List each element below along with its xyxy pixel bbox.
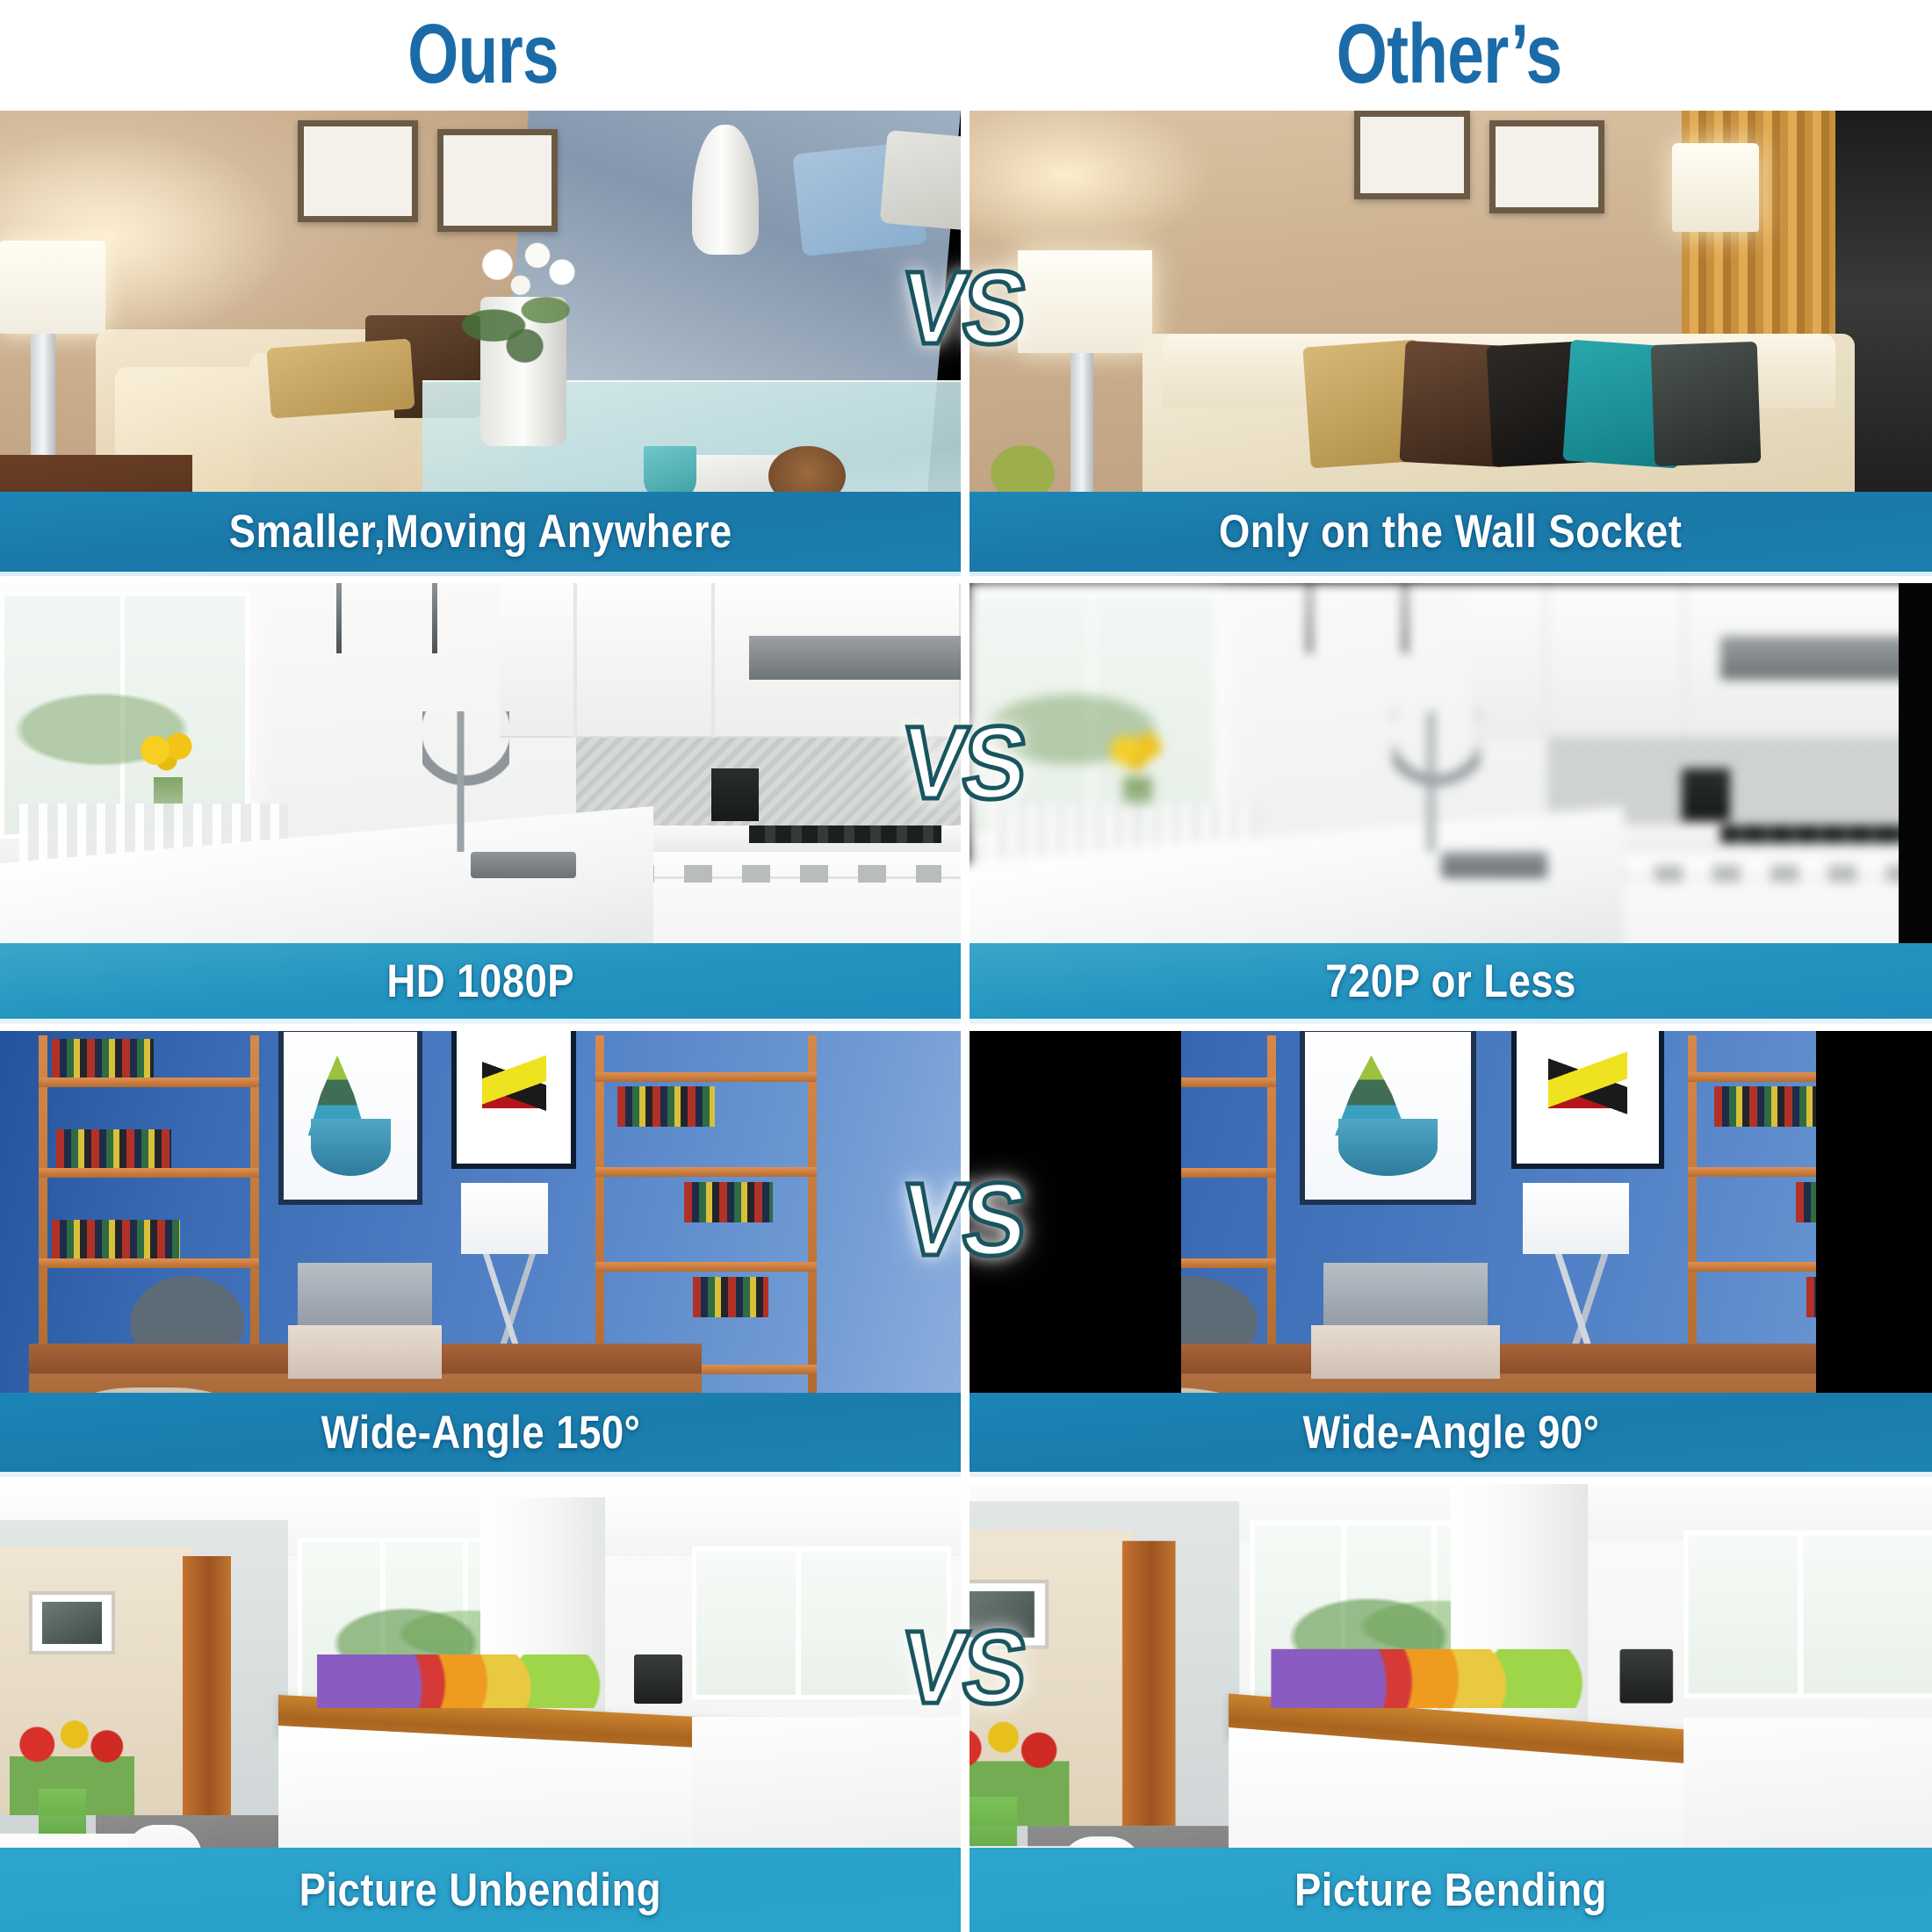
faucet-icon [1393, 711, 1480, 853]
caption-text: Picture Bending [1294, 1864, 1607, 1917]
caption-bar-others-distortion: Picture Bending [970, 1848, 1932, 1932]
wall-art-icon [29, 1591, 115, 1654]
vs-badge: VS [897, 1616, 1029, 1719]
caption-bar-ours-fov: Wide-Angle 150° [0, 1393, 961, 1477]
panel-ours-resolution[interactable]: HD 1080P [0, 583, 961, 1024]
header-title-ours: Ours [106, 5, 860, 109]
caption-text: HD 1080P [386, 955, 574, 1008]
wall-frame-icon [298, 120, 418, 223]
wall-frame-icon [1354, 111, 1470, 199]
panel-ours-fov[interactable]: Wide-Angle 150° [0, 1031, 961, 1477]
wall-frame-icon [437, 129, 558, 232]
panel-others-resolution[interactable]: 720P or Less [970, 583, 1932, 1024]
table-lamp-icon [0, 241, 105, 334]
panel-others-fov[interactable]: Wide-Angle 90° [970, 1031, 1932, 1477]
wall-frame-icon [1489, 120, 1605, 213]
caption-text: 720P or Less [1325, 955, 1576, 1008]
vs-badge: VS [897, 711, 1029, 815]
caption-bar-ours-size: Smaller,Moving Anywhere [0, 492, 961, 576]
vs-badge: VS [897, 1168, 1029, 1272]
caption-bar-others-resolution: 720P or Less [970, 943, 1932, 1024]
wall-art-icon [278, 1031, 422, 1205]
sunflowers-icon [125, 724, 211, 782]
floor-lamp-icon [461, 1183, 547, 1254]
comparison-infographic: Ours Other’s Smaller,Moving Anywhe [0, 0, 1932, 1932]
vs-badge: VS [897, 256, 1029, 360]
header: Ours Other’s [0, 0, 1932, 111]
caption-text: Smaller,Moving Anywhere [228, 505, 732, 559]
panel-others-distortion[interactable]: Picture Bending [970, 1484, 1932, 1932]
table-lamp-icon [1018, 250, 1152, 353]
wall-art-icon [451, 1031, 576, 1169]
caption-bar-ours-distortion: Picture Unbending [0, 1848, 961, 1932]
sunflowers-icon [1094, 724, 1181, 782]
caption-text: Picture Unbending [299, 1864, 661, 1917]
caption-text: Wide-Angle 150° [321, 1406, 640, 1460]
caption-bar-others-fov: Wide-Angle 90° [970, 1393, 1932, 1477]
panel-ours-distortion[interactable]: Picture Unbending [0, 1484, 961, 1932]
panel-ours-size[interactable]: Smaller,Moving Anywhere [0, 111, 961, 576]
panel-others-size[interactable]: Only on the Wall Socket [970, 111, 1932, 576]
faucet-icon [422, 711, 508, 853]
header-title-others: Other’s [1072, 5, 1826, 109]
caption-bar-ours-resolution: HD 1080P [0, 943, 961, 1024]
caption-text: Wide-Angle 90° [1302, 1406, 1599, 1460]
caption-text: Only on the Wall Socket [1219, 505, 1682, 559]
wall-lamp-icon [1672, 143, 1759, 232]
caption-bar-others-size: Only on the Wall Socket [970, 492, 1932, 576]
